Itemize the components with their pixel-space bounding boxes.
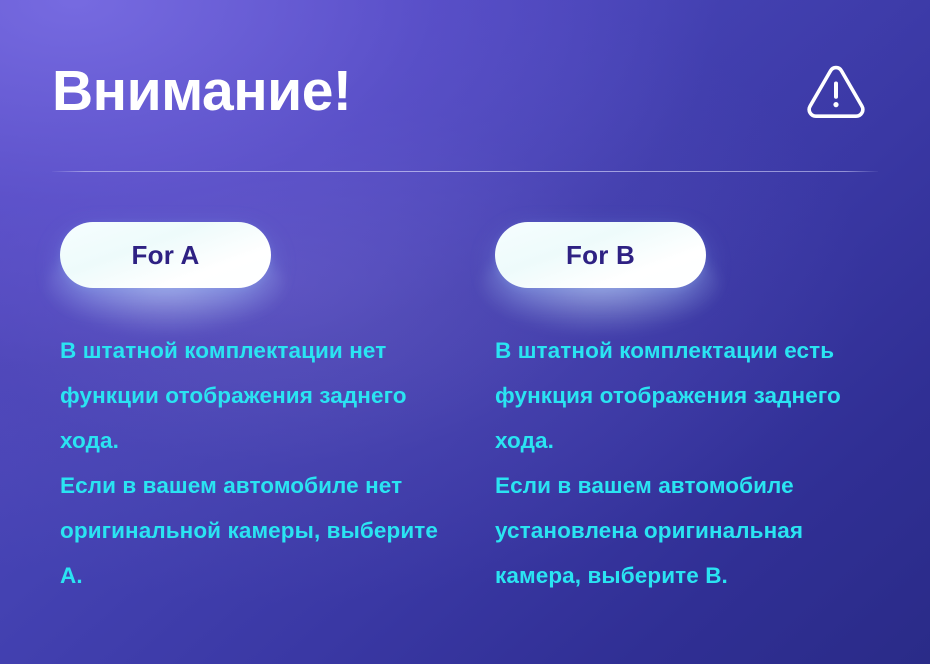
header-divider [52, 171, 878, 172]
pill-wrap-b: For B [495, 222, 706, 288]
option-a-description: В штатной комплектации нет функции отобр… [60, 328, 452, 598]
options-columns: For A В штатной комплектации нет функции… [0, 222, 930, 598]
for-b-button[interactable]: For B [495, 222, 706, 288]
option-a-paragraph-1: В штатной комплектации нет функции отобр… [60, 328, 452, 463]
for-a-button-label: For A [132, 242, 200, 268]
slide-header: Внимание! [52, 48, 878, 134]
pill-wrap-a: For A [60, 222, 271, 288]
option-b-paragraph-1: В штатной комплектации есть функция отоб… [495, 328, 887, 463]
warning-triangle-icon [804, 59, 868, 123]
for-a-button[interactable]: For A [60, 222, 271, 288]
option-column-a: For A В штатной комплектации нет функции… [60, 222, 495, 598]
option-b-paragraph-2: Если в вашем автомобиле установлена ориг… [495, 463, 887, 598]
for-b-button-label: For B [566, 242, 635, 268]
option-column-b: For B В штатной комплектации есть функци… [495, 222, 930, 598]
option-b-description: В штатной комплектации есть функция отоб… [495, 328, 887, 598]
option-a-paragraph-2: Если в вашем автомобиле нет оригинальной… [60, 463, 452, 598]
warning-slide: Внимание! For A В штатной комплектации н… [0, 0, 930, 664]
page-title: Внимание! [52, 63, 351, 120]
